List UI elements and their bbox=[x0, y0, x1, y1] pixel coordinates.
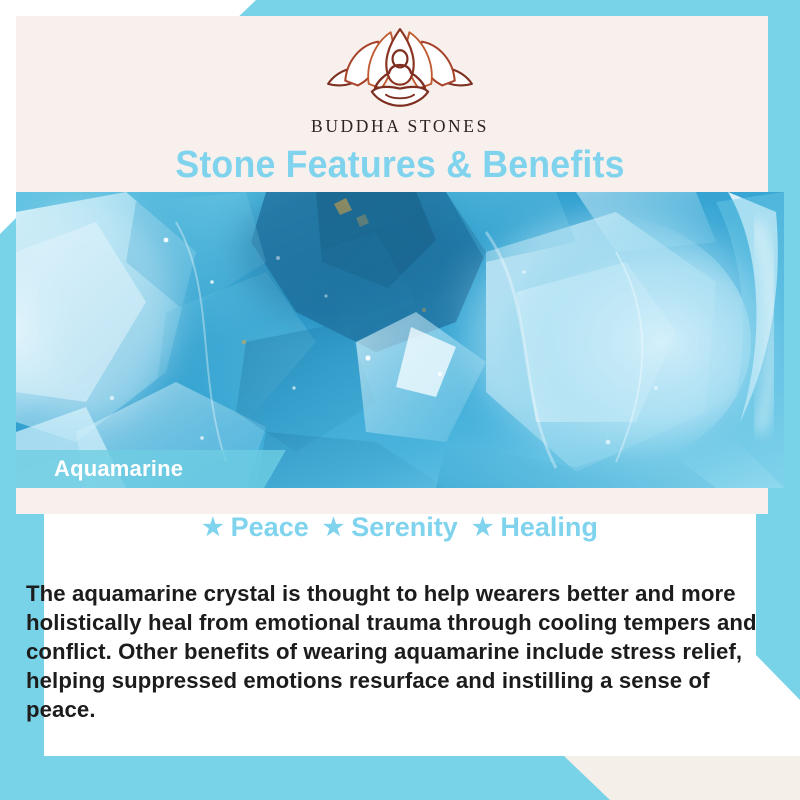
keyword-label: Healing bbox=[500, 512, 598, 543]
brand-logo-block: BUDDHA STONES bbox=[0, 26, 800, 137]
star-icon: ★ bbox=[202, 516, 224, 540]
hero-image bbox=[16, 192, 784, 488]
star-icon: ★ bbox=[323, 516, 345, 540]
stone-features-poster: BUDDHA STONES Stone Features & Benefits bbox=[0, 0, 800, 800]
stone-name-ribbon: Aquamarine bbox=[16, 450, 286, 488]
keyword-row: ★ Peace ★ Serenity ★ Healing bbox=[0, 512, 800, 543]
keyword-serenity: ★ Serenity bbox=[323, 512, 458, 543]
hero-cream-underline bbox=[16, 488, 768, 514]
keyword-label: Peace bbox=[231, 512, 309, 543]
keyword-healing: ★ Healing bbox=[472, 512, 598, 543]
decor-bar-bottom bbox=[0, 756, 610, 800]
stone-name-label: Aquamarine bbox=[16, 456, 183, 482]
keyword-peace: ★ Peace bbox=[202, 512, 309, 543]
keyword-label: Serenity bbox=[351, 512, 458, 543]
aquamarine-crystal-illustration bbox=[16, 192, 784, 488]
lotus-meditation-figure-icon bbox=[314, 26, 486, 112]
brand-name: BUDDHA STONES bbox=[0, 116, 800, 137]
page-title: Stone Features & Benefits bbox=[24, 144, 776, 187]
description-text: The aquamarine crystal is thought to hel… bbox=[26, 579, 763, 724]
star-icon: ★ bbox=[472, 516, 494, 540]
